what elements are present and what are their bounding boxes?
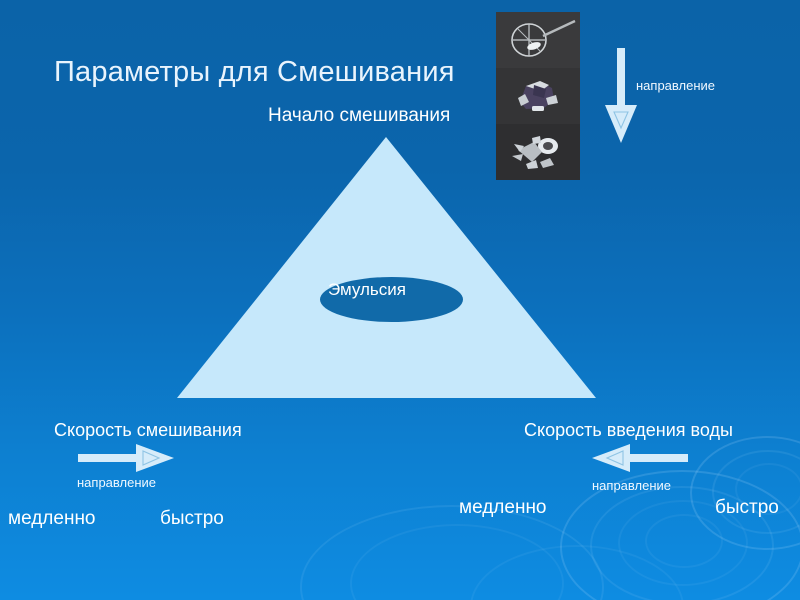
slide-canvas: Параметры для Смешивания Начало смешиван… [0, 0, 800, 600]
water-rate-heading: Скорость введения воды [524, 420, 733, 441]
emulsion-label: Эмульсия [322, 280, 412, 299]
page-title: Параметры для Смешивания [54, 56, 455, 89]
arrow-left-direction [592, 443, 688, 473]
arrow-down-label: направление [636, 78, 715, 93]
water-rate-slow-label: медленно [459, 497, 547, 519]
arrow-down-direction [604, 48, 638, 143]
water-rate-fast-label: быстро [715, 497, 779, 519]
mixing-speed-heading: Скорость смешивания [54, 420, 242, 441]
subtitle-start-of-mixing: Начало смешивания [268, 105, 450, 127]
mixing-speed-slow-label: медленно [8, 508, 96, 530]
mixing-speed-fast-label: быстро [160, 508, 224, 530]
stirrer-photo-1 [496, 12, 580, 68]
stirrer-photo-2 [496, 68, 580, 124]
stirrer-photo-strip [496, 12, 580, 180]
arrow-right-direction [78, 443, 174, 473]
stirrer-photo-3 [496, 124, 580, 180]
mixing-speed-direction-label: направление [77, 475, 156, 490]
water-rate-direction-label: направление [592, 478, 671, 493]
